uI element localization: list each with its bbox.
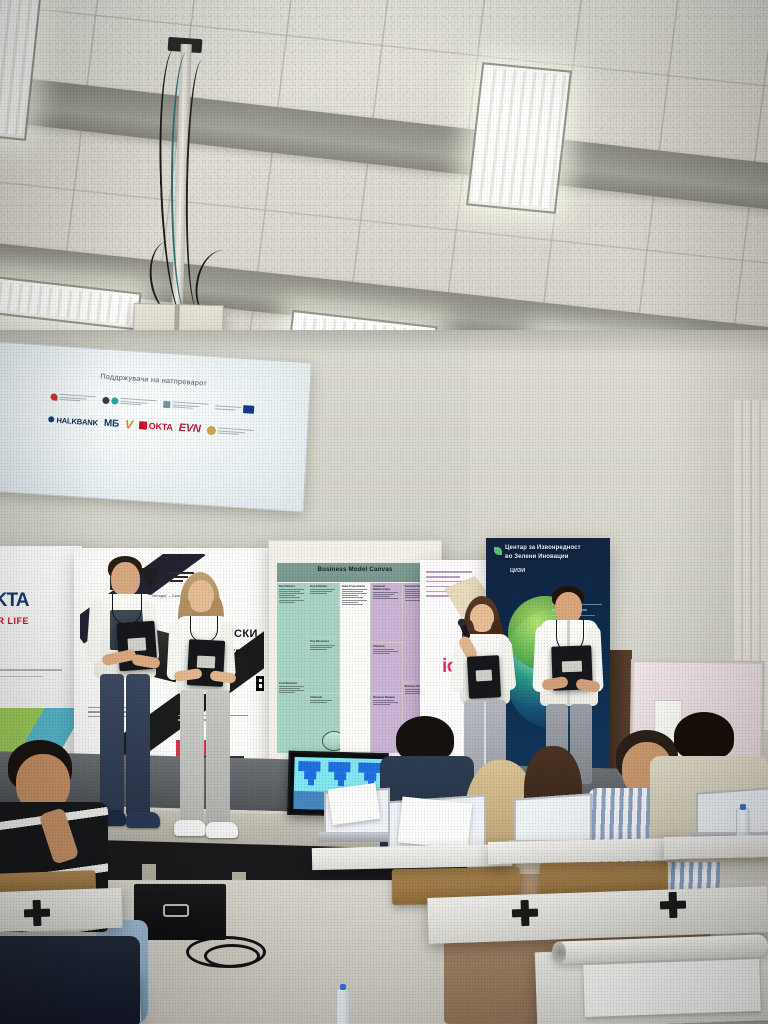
sponsor-logo-halkbank: HALKBANK [48,415,98,427]
bmc-cell-value-propositions: Value Propositions [340,583,370,753]
v-label: V [125,417,134,431]
projection-screen: Поддржувачи на натпреварот [0,342,312,513]
desk [664,835,768,859]
desk-cross-mark [660,892,687,919]
okta-tagline: FOR LIFE [0,616,29,626]
sponsor-logo-mb: МБ [104,417,120,429]
sponsor-logo-v: V [125,417,134,431]
okta-brand: OKTA [0,590,28,612]
green-abbr: ЦИЗИ [510,568,525,574]
bmc-title: Business Model Canvas [317,566,392,573]
audience-7 [0,936,140,1024]
bmc-cell-customer-relationships: Customer Relationships [371,583,401,642]
photo-scene: Поддржувачи на натпреварот [0,0,768,1024]
bmc-cell-key-partners: Key Partners [277,583,307,679]
sponsor-logo-okta: OKTA [138,420,173,432]
bmc-title-bar: Business Model Canvas [277,563,433,576]
desk-front-left [0,888,123,933]
green-line2: во Зелени Иновации [505,554,604,562]
mb-label: МБ [104,417,120,429]
paper-sheet [328,783,381,825]
paper-sheet [398,796,472,849]
paper-sheet [583,959,761,1017]
water-bottle [336,988,350,1024]
bmc-cell-channels: Channels [308,694,338,753]
desk-cross-mark [24,900,51,927]
cable-coil [204,944,260,968]
bmc-cell-key-resources: Key Resources [308,638,338,692]
okta-label: OKTA [148,421,173,433]
desk-cross-mark [512,900,539,927]
bmc-cell-key-activities: Key Activities [308,583,338,637]
award-plaque [467,655,501,699]
shoe [206,822,238,838]
desk [312,844,512,870]
sponsor-logo-university [206,425,253,437]
bmc-cell-channels-right: Channels [371,643,401,693]
bmc-cell-cost-structure: Cost Structure [277,680,307,753]
shoe [126,812,160,828]
desk [488,838,678,864]
green-line1: Центар за Извонредност [505,545,604,553]
leaf-icon [494,547,502,555]
sponsor-logo-evn: EVN [178,422,201,435]
halkbank-label: HALKBANK [56,415,98,427]
bmc-subtitle-bar [277,576,433,582]
fluorescent-light [466,62,572,214]
qr-code [256,676,264,691]
evn-label: EVN [178,422,201,435]
presenter-2 [166,572,244,850]
shoe [174,820,206,836]
